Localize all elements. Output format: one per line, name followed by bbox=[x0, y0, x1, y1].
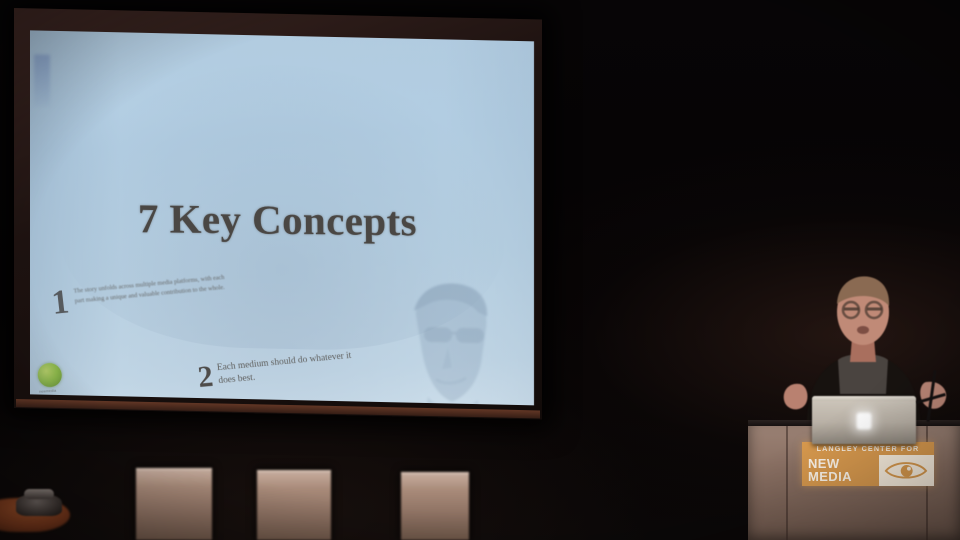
green-badge-icon bbox=[37, 362, 63, 388]
macbook-laptop bbox=[812, 396, 916, 444]
concept-number: 1 bbox=[50, 287, 70, 319]
stage-chair bbox=[257, 470, 331, 540]
stage-chair bbox=[401, 472, 469, 540]
langley-center-for-new-media-logo: LANGLEY CENTER FOR NEW MEDIA bbox=[802, 442, 934, 486]
slide-logo-caption: newmedia bbox=[39, 388, 69, 394]
apple-logo-icon bbox=[857, 413, 872, 430]
logo-line-2: MEDIA bbox=[808, 471, 879, 484]
slide-corner-logo: newmedia bbox=[37, 362, 70, 394]
podium-seam bbox=[786, 426, 788, 540]
portrait-with-sunglasses-icon bbox=[386, 270, 518, 405]
stage-chair bbox=[136, 468, 212, 540]
projection-artifact bbox=[34, 54, 50, 106]
concept-text: Each medium should do whatever it does b… bbox=[216, 349, 366, 388]
eye-icon bbox=[879, 455, 934, 486]
slide-surface: 7 Key Concepts 1 The story unfolds acros… bbox=[30, 30, 534, 405]
slide-title: 7 Key Concepts bbox=[138, 194, 417, 245]
concept-number: 2 bbox=[196, 363, 214, 391]
rotary-telephone-icon bbox=[16, 494, 62, 516]
projection-screen: 7 Key Concepts 1 The story unfolds acros… bbox=[14, 8, 542, 420]
slide-concept-item: 2 Each medium should do whatever it does… bbox=[196, 349, 366, 391]
presentation-photo-scene: 7 Key Concepts 1 The story unfolds acros… bbox=[0, 0, 960, 540]
